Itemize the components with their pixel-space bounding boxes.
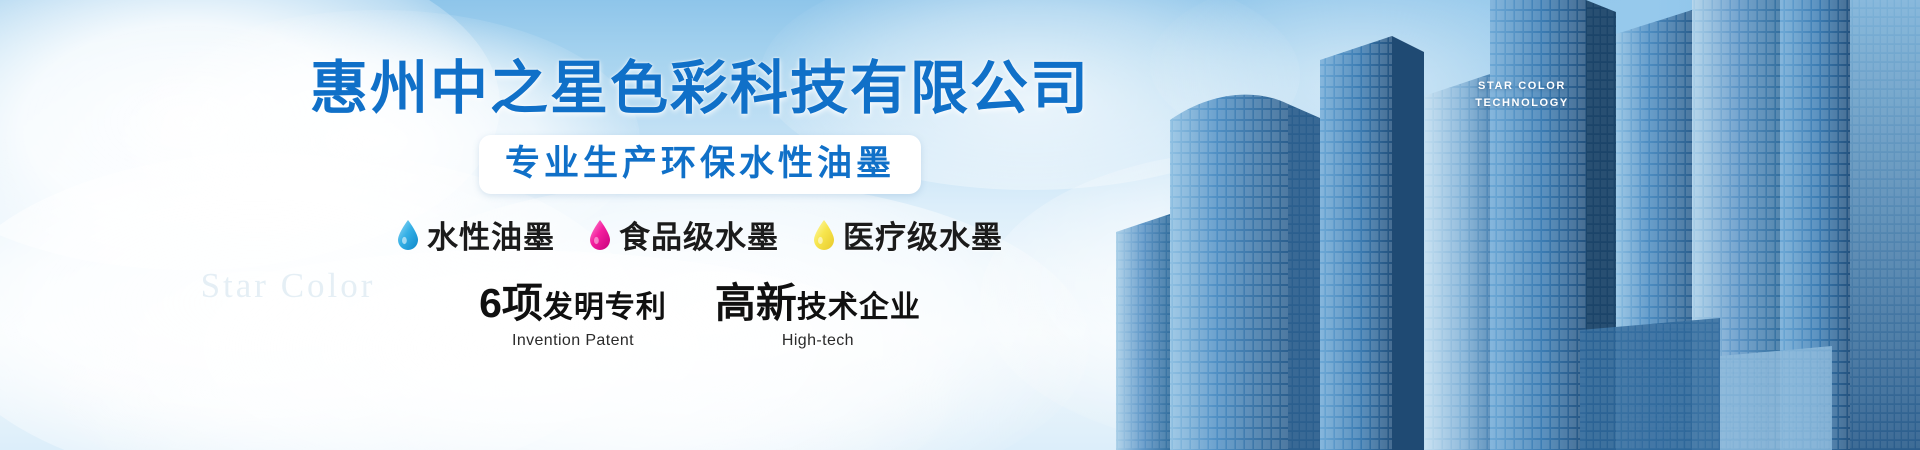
credential-english: Invention Patent [512, 332, 634, 350]
credential-list: 6项 发明专利 Invention Patent 高新 技术企业 High-te… [479, 283, 921, 350]
water-drop-icon [397, 220, 419, 250]
corner-brand-label: STAR COLOR TECHNOLOGY [1462, 78, 1582, 112]
credential-highlight: 6项 [479, 283, 543, 324]
banner-content: 惠州中之星色彩科技有限公司 专业生产环保水性油墨 [0, 0, 1400, 450]
feature-item: 水性油墨 [397, 212, 555, 257]
company-title: 惠州中之星色彩科技有限公司 [310, 58, 1090, 121]
credential-english: High-tech [782, 332, 854, 350]
water-drop-icon [589, 220, 611, 250]
feature-list: 水性油墨 [397, 212, 1003, 257]
feature-item: 食品级水墨 [589, 212, 779, 257]
credential-chinese: 高新 技术企业 [715, 283, 921, 324]
credential-highlight: 高新 [715, 283, 797, 324]
feature-label: 水性油墨 [427, 212, 555, 257]
feature-label: 食品级水墨 [619, 212, 779, 257]
feature-label: 医疗级水墨 [843, 212, 1003, 257]
credential-chinese: 6项 发明专利 [479, 283, 667, 324]
credential-rest: 发明专利 [543, 293, 667, 323]
feature-item: 医疗级水墨 [813, 212, 1003, 257]
credential-item: 6项 发明专利 Invention Patent [479, 283, 667, 350]
water-drop-icon [813, 220, 835, 250]
slogan-text: 专业生产环保水性油墨 [505, 142, 895, 186]
slogan-pill: 专业生产环保水性油墨 [479, 135, 921, 195]
promo-banner: Star Color [0, 0, 1920, 450]
credential-rest: 技术企业 [797, 293, 921, 323]
credential-item: 高新 技术企业 High-tech [715, 283, 921, 350]
